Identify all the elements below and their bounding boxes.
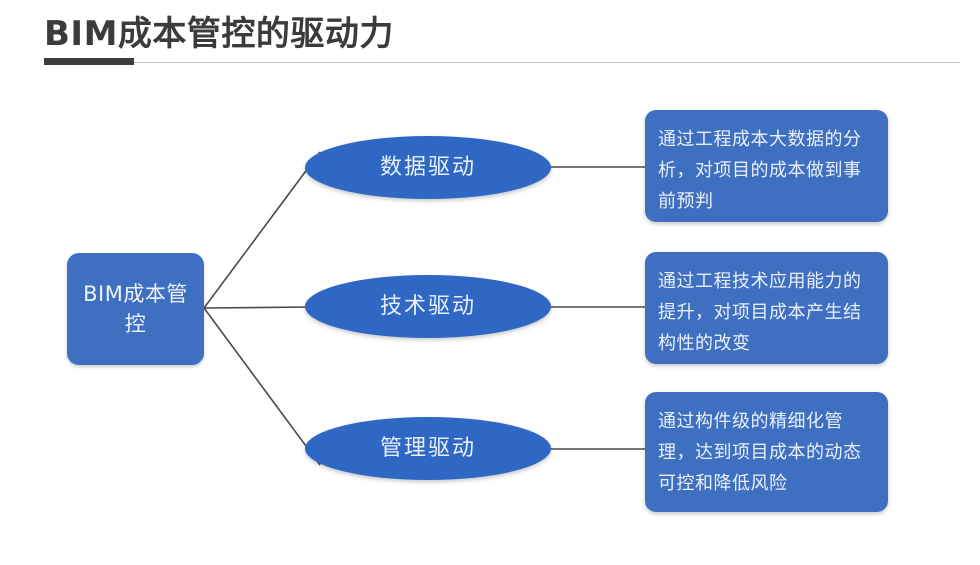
slide-canvas: BIM成本管控的驱动力 BIM成本管控 数据驱动 技术驱动 管理驱动 通过工程成… — [0, 0, 980, 565]
detail-box-2-text: 通过工程技术应用能力的提升，对项目成本产生结构性的改变 — [658, 266, 876, 359]
branch-node-2[interactable]: 技术驱动 — [305, 275, 551, 338]
detail-box-1-text: 通过工程成本大数据的分析，对项目的成本做到事前预判 — [658, 124, 876, 217]
root-node[interactable]: BIM成本管控 — [67, 253, 204, 365]
branch-node-3[interactable]: 管理驱动 — [305, 417, 551, 480]
detail-box-3-text: 通过构件级的精细化管理，达到项目成本的动态可控和降低风险 — [658, 406, 876, 499]
branch-node-3-label: 管理驱动 — [380, 436, 476, 462]
branch-node-1[interactable]: 数据驱动 — [305, 136, 551, 199]
root-node-label: BIM成本管控 — [75, 279, 196, 339]
detail-box-1[interactable]: 通过工程成本大数据的分析，对项目的成本做到事前预判 — [645, 110, 888, 222]
detail-box-2[interactable]: 通过工程技术应用能力的提升，对项目成本产生结构性的改变 — [645, 252, 888, 364]
detail-box-3[interactable]: 通过构件级的精细化管理，达到项目成本的动态可控和降低风险 — [645, 392, 888, 512]
branch-node-2-label: 技术驱动 — [380, 294, 476, 320]
branch-node-1-label: 数据驱动 — [380, 155, 476, 181]
